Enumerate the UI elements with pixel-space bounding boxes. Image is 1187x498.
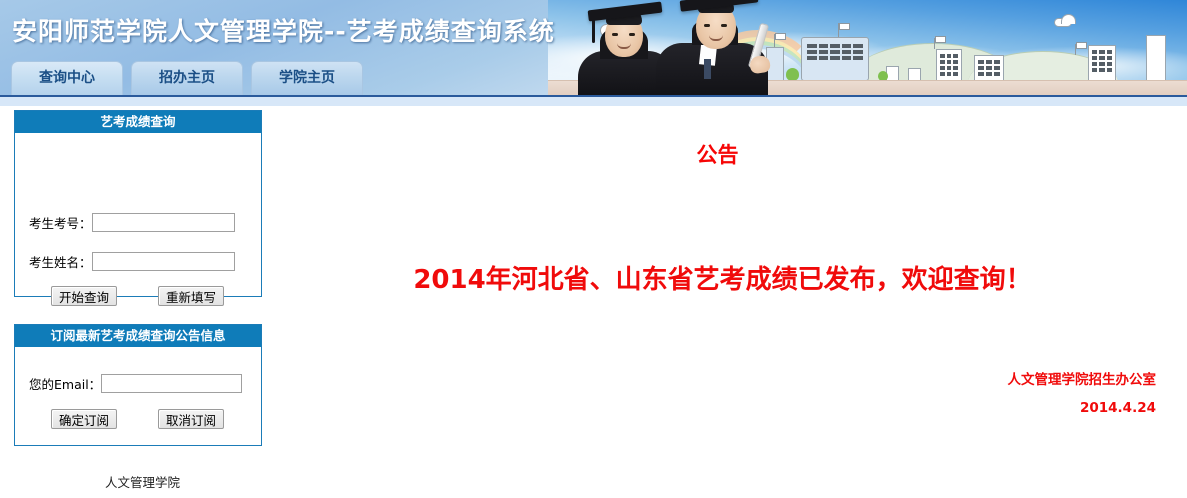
announcement-date: 2014.4.24	[1080, 400, 1156, 416]
start-query-button[interactable]: 开始查询	[51, 286, 117, 306]
flag-icon	[935, 36, 946, 43]
email-input[interactable]	[101, 374, 242, 393]
window-grid	[807, 44, 863, 68]
flag-icon	[1076, 42, 1087, 49]
reset-form-button[interactable]: 重新填写	[158, 286, 224, 306]
sketch-tower	[1146, 35, 1166, 81]
tab-college-home[interactable]: 学院主页	[251, 61, 363, 95]
college-footer-note: 人文管理学院	[105, 472, 180, 491]
student-name-label: 考生姓名：	[29, 252, 92, 271]
announcement-body: 2014年河北省、山东省艺考成绩已发布，欢迎查询！	[275, 259, 1170, 296]
sketch-cloud-icon	[1054, 18, 1072, 27]
email-row: 您的Email：	[29, 374, 242, 393]
cancel-subscribe-button[interactable]: 取消订阅	[158, 409, 224, 429]
eye	[721, 24, 727, 27]
email-label: 您的Email：	[29, 374, 101, 393]
eye	[629, 33, 635, 36]
smile	[617, 43, 631, 49]
exam-number-label: 考生考号：	[29, 213, 92, 232]
page-root: 安阳师范学院人文管理学院--艺考成绩查询系统 查询中心 招办主页 学院主页 艺考…	[0, 0, 1187, 498]
window-grid	[978, 60, 1000, 77]
student-name-row: 考生姓名：	[29, 252, 235, 271]
tab-admissions-home[interactable]: 招办主页	[131, 61, 243, 95]
header-underbar	[0, 97, 1187, 106]
smile	[709, 35, 723, 41]
flag-icon	[839, 23, 850, 30]
page-content: 艺考成绩查询 考生考号： 考生姓名： 开始查询 重新填写 订阅最新艺考成绩查询公…	[0, 106, 1187, 498]
sketch-building	[974, 55, 1004, 81]
score-query-panel-title: 艺考成绩查询	[15, 111, 261, 133]
main-nav-tabs: 查询中心 招办主页 学院主页	[11, 61, 363, 95]
cap-tassel	[592, 17, 595, 43]
score-query-panel: 艺考成绩查询 考生考号： 考生姓名： 开始查询 重新填写	[14, 110, 262, 297]
subscribe-panel-title: 订阅最新艺考成绩查询公告信息	[15, 325, 261, 347]
announcement-signature: 人文管理学院招生办公室	[1008, 368, 1157, 388]
tab-query-center[interactable]: 查询中心	[11, 61, 123, 95]
sketch-building	[936, 49, 962, 81]
student-name-input[interactable]	[92, 252, 235, 271]
graduate-male-figure	[652, 0, 802, 95]
eye	[704, 24, 710, 27]
window-grid	[1092, 50, 1112, 77]
sketch-main-building	[801, 37, 869, 81]
banner-photo-graduates	[548, 0, 1187, 95]
sketch-building	[886, 66, 899, 81]
sketch-building	[1088, 45, 1116, 81]
announcement-title: 公告	[275, 139, 1160, 169]
eye	[612, 33, 618, 36]
site-title: 安阳师范学院人文管理学院--艺考成绩查询系统	[12, 12, 555, 48]
exam-number-row: 考生考号：	[29, 213, 235, 232]
confirm-subscribe-button[interactable]: 确定订阅	[51, 409, 117, 429]
announcement-area: 公告 2014年河北省、山东省艺考成绩已发布，欢迎查询！ 人文管理学院招生办公室…	[275, 106, 1187, 498]
window-grid	[940, 54, 958, 77]
announcement-subscribe-panel: 订阅最新艺考成绩查询公告信息 您的Email： 确定订阅 取消订阅	[14, 324, 262, 446]
necktie	[704, 59, 711, 79]
exam-number-input[interactable]	[92, 213, 235, 232]
